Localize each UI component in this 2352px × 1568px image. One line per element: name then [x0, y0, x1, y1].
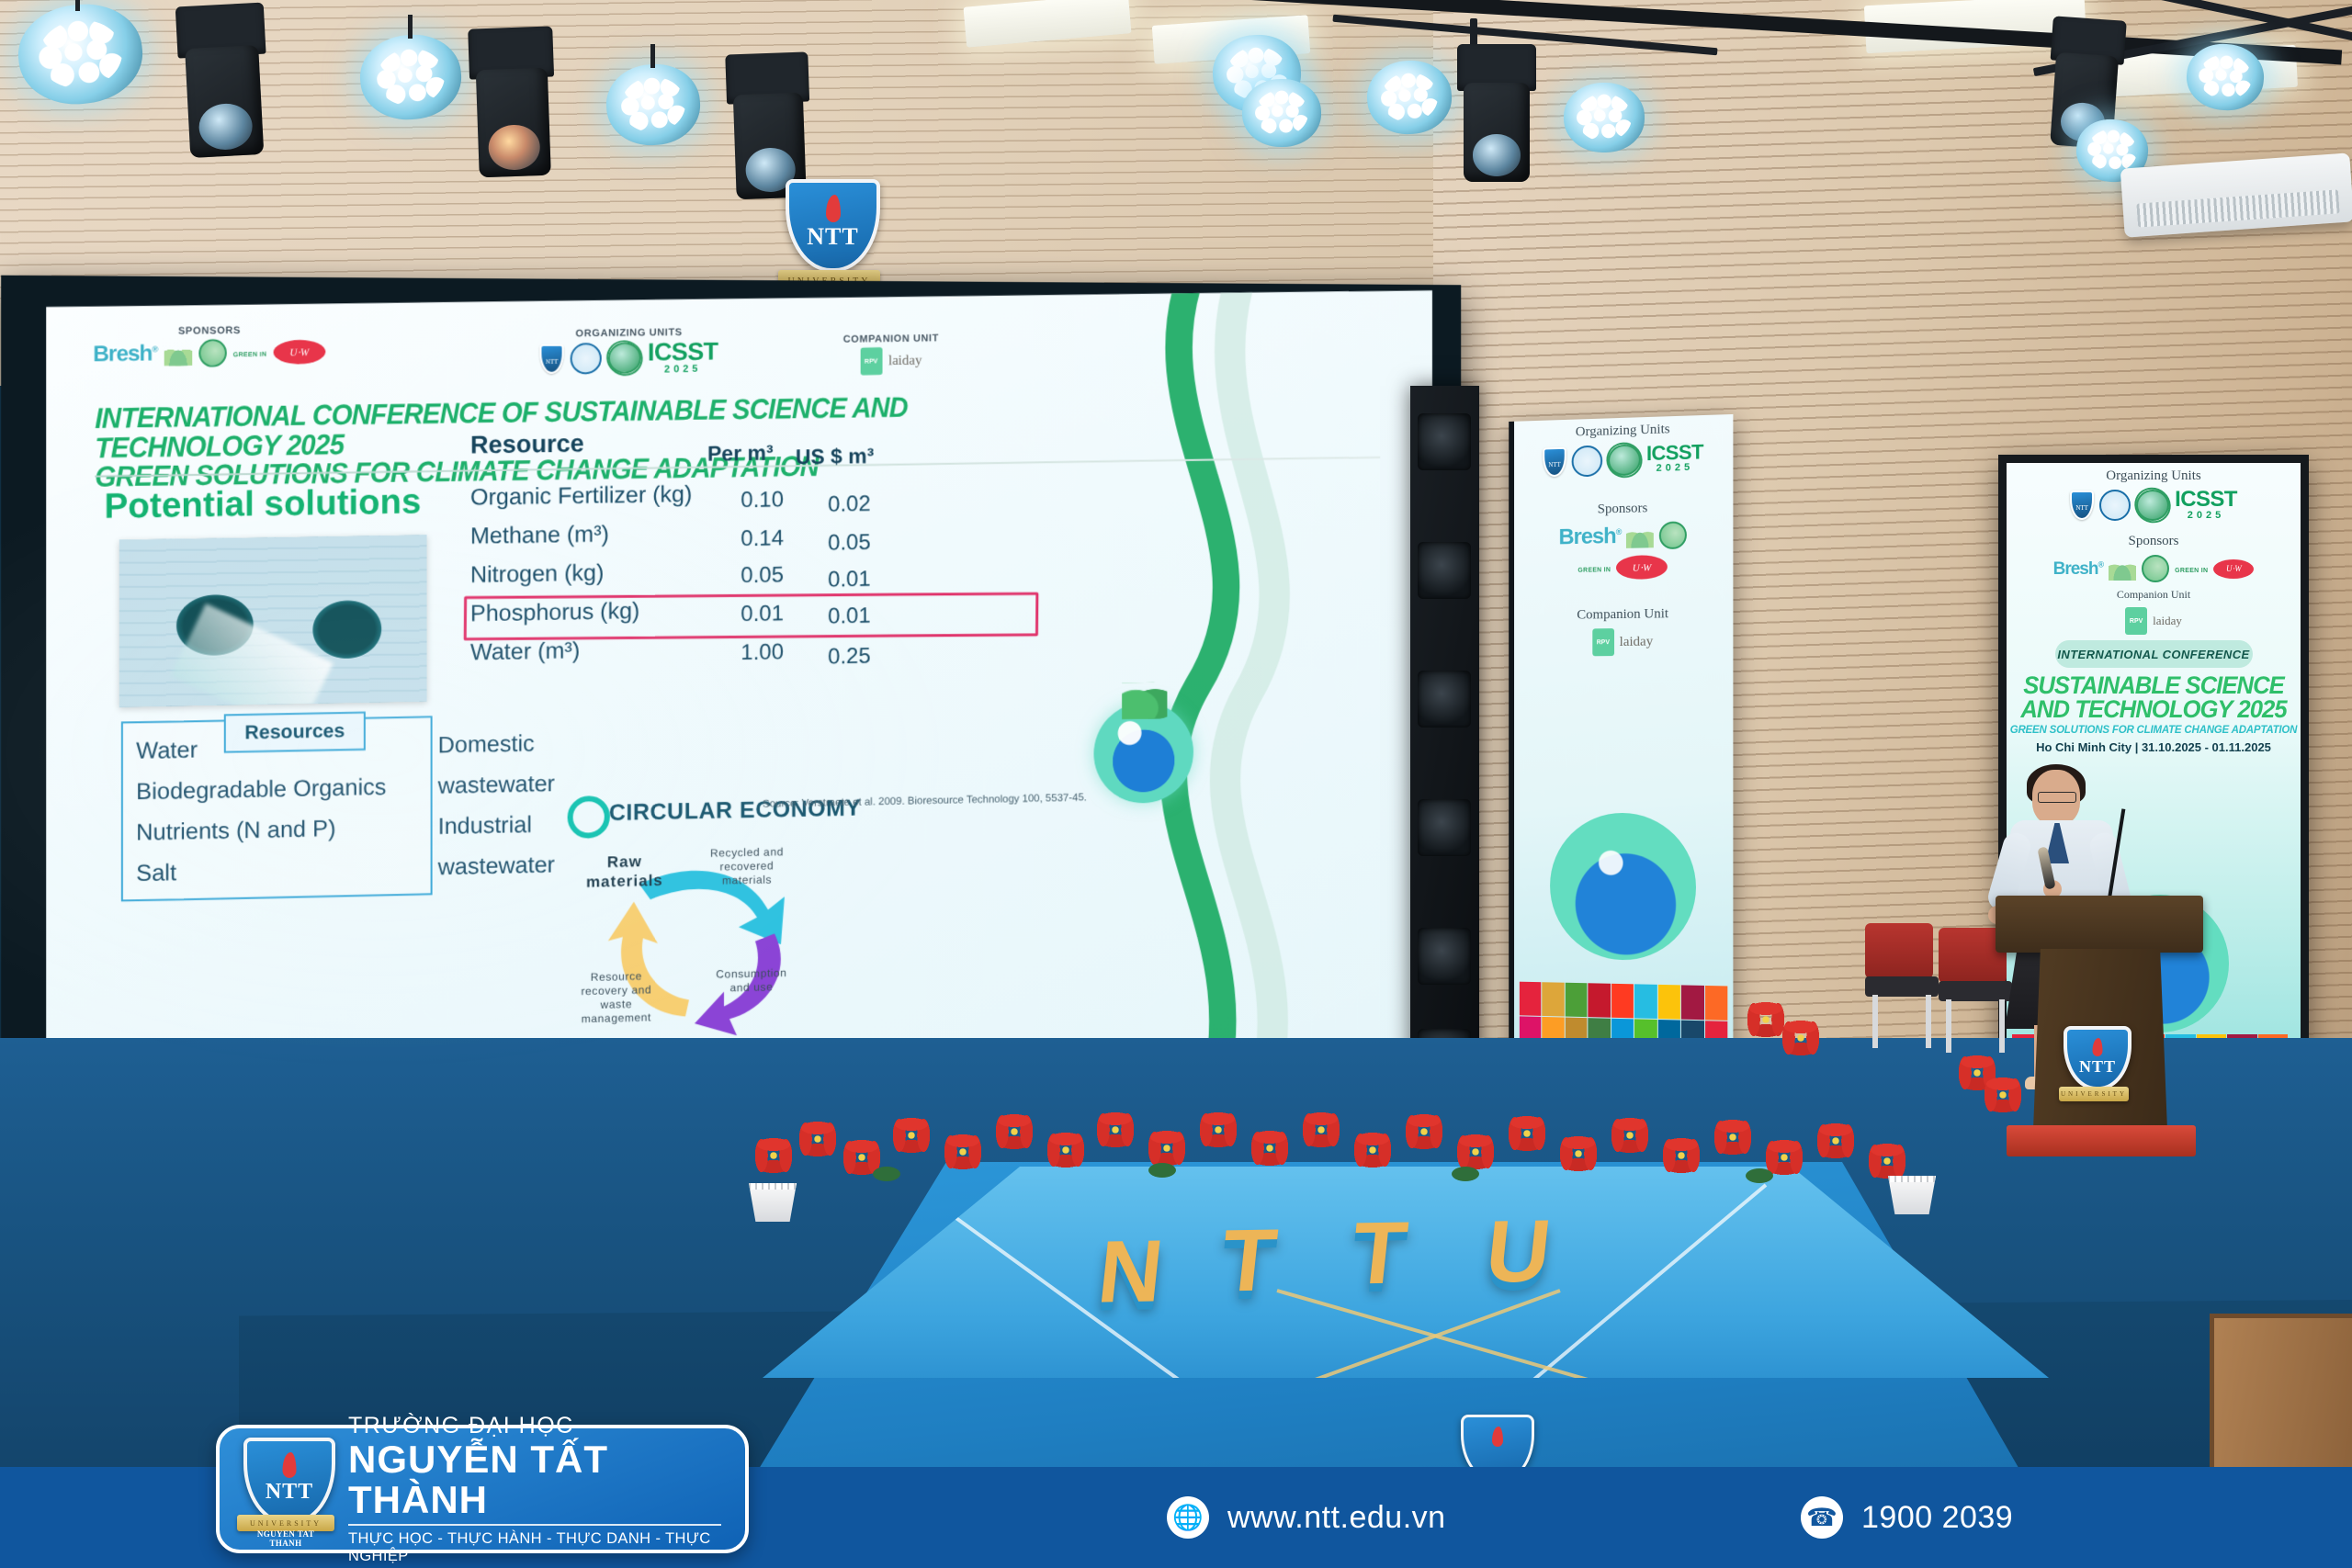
sdg-tile: [1681, 985, 1704, 1019]
sponsors-logo-group: SPONSORS Bresh® GREEN IN U⋅W: [93, 324, 325, 369]
ntt-monogram: NTT: [2067, 1057, 2128, 1077]
eyeglasses-icon: [2038, 792, 2076, 803]
institute-seal-icon: [1572, 446, 1603, 478]
flower: [891, 1117, 932, 1154]
poster-date-location: Ho Chi Minh City | 31.10.2025 - 01.11.20…: [2007, 740, 2301, 754]
brand-divider: [348, 1524, 721, 1526]
foliage: [1746, 1168, 1773, 1183]
light-lens: [488, 124, 540, 171]
speaker-driver: [1418, 928, 1471, 985]
globe-network-icon: [608, 343, 641, 375]
institute-seal-icon: [2099, 490, 2131, 521]
table-row: Methane (m³): [470, 521, 609, 549]
par-can-light: [1564, 83, 1645, 152]
table-cell-usd-m3: 0.05: [788, 530, 871, 557]
ntt-wall-emblem: NTT UNIVERSITY: [786, 179, 873, 294]
flower: [943, 1134, 983, 1170]
sdg-tile: [1657, 985, 1680, 1019]
sdg-tile: [1589, 983, 1611, 1017]
chair-leg: [1946, 999, 1951, 1053]
poster-sponsors-caption: Sponsors: [2007, 534, 2301, 549]
poster-organizing-logos: ICSST 2025: [2007, 490, 2301, 521]
poster-subtitle: GREEN SOLUTIONS FOR CLIMATE CHANGE ADAPT…: [2007, 725, 2301, 736]
sdg-tile: [1520, 982, 1542, 1016]
icsst-logo: ICSST 2025: [648, 340, 718, 374]
phone-icon: ☎: [1801, 1496, 1843, 1539]
rpv-logo-icon: RPV: [860, 347, 882, 375]
speaker-podium: NTT UNIVERSITY: [2012, 896, 2187, 1153]
green-in-label: GREEN IN: [2175, 568, 2208, 574]
flower: [1095, 1111, 1136, 1148]
poster-title: SUSTAINABLE SCIENCE AND TECHNOLOGY 2025: [2014, 673, 2293, 721]
flower: [797, 1121, 838, 1157]
institute-seal-icon: [571, 343, 602, 375]
moving-head-light: [725, 51, 812, 199]
rpv-logo-icon: RPV: [1592, 628, 1614, 656]
banner-sponsor-logos-2: GREEN IN U⋅W: [1514, 554, 1733, 581]
flame-icon: [2093, 1038, 2103, 1056]
poster-companion-caption: Companion Unit: [2007, 588, 2301, 602]
website-url[interactable]: www.ntt.edu.vn: [1227, 1500, 1446, 1536]
sdg-tile: [1611, 984, 1634, 1018]
speaker-driver: [1418, 413, 1471, 470]
organizing-logo-row: ICSST 2025: [539, 340, 718, 376]
lotus-leaf-logo-icon: [1626, 524, 1654, 548]
sdg-tile: [1566, 983, 1588, 1017]
flower: [1713, 1119, 1753, 1156]
icsst-logo: ICSST 2025: [2175, 490, 2237, 520]
organizing-units-logo-group: ORGANIZING UNITS ICSST 2025: [539, 326, 718, 376]
flower-pot: [744, 1183, 801, 1222]
source-citation: Source: Verstraete et al. 2009. Bioresou…: [763, 793, 1087, 810]
globe-icon: 🌐: [1167, 1496, 1209, 1539]
phone-number[interactable]: 1900 2039: [1861, 1500, 2013, 1536]
icsst-name: ICSST: [648, 337, 718, 366]
companion-unit-caption: COMPANION UNIT: [843, 333, 939, 344]
green-swirl-decoration: [1062, 290, 1333, 1099]
chair-seat: [1865, 976, 1939, 997]
flower: [1352, 1132, 1393, 1168]
table-cell-usd-m3: 0.01: [788, 567, 871, 593]
university-name-block: TRƯỜNG ĐẠI HỌC NGUYỄN TẤT THÀNH THỰC HỌC…: [348, 1413, 721, 1565]
podium-ntt-emblem: NTT UNIVERSITY: [2064, 1026, 2124, 1103]
flower: [1198, 1111, 1238, 1148]
table-cell-usd-m3: 0.25: [788, 644, 871, 671]
flower: [1781, 1020, 1821, 1056]
table-cell-per-m3: 0.10: [701, 487, 784, 513]
ce-label-consumption: Consumption and use: [701, 966, 802, 997]
flower: [1249, 1130, 1290, 1167]
table-row: Organic Fertilizer (kg): [470, 481, 692, 512]
wastewater-source-line: wastewater: [438, 771, 555, 800]
flower: [1455, 1134, 1496, 1170]
green-in-label: GREEN IN: [1577, 567, 1611, 574]
table-cell-per-m3: 0.14: [701, 525, 784, 552]
poster-organizing-caption: Organizing Units: [2007, 468, 2301, 484]
university-prefix: TRƯỜNG ĐẠI HỌC: [348, 1413, 721, 1439]
poster-pill-label: INTERNATIONAL CONFERENCE: [2055, 640, 2253, 668]
ntt-university-logo-icon: [1543, 447, 1566, 478]
flower-pot: [1883, 1176, 1940, 1214]
poster-companion-logos: RPV laiday: [2007, 607, 2301, 635]
speaker-driver: [1418, 671, 1471, 728]
flower: [1867, 1143, 1907, 1179]
banner-green-globe-graphic: [1550, 813, 1696, 962]
flower: [1815, 1122, 1856, 1159]
resource-item: Water: [136, 737, 198, 765]
university-motto: THỰC HỌC - THỰC HÀNH - THỰC DANH - THỰC …: [348, 1530, 721, 1565]
flame-icon: [283, 1452, 297, 1478]
website-block[interactable]: 🌐 www.ntt.edu.vn: [1167, 1496, 1446, 1539]
wastewater-source-line: wastewater: [438, 852, 555, 881]
podium-riser-platform: [2007, 1125, 2196, 1156]
flower: [1558, 1135, 1599, 1172]
university-brand-card: NTT UNIVERSITY NGUYEN TAT THANH TRƯỜNG Đ…: [216, 1425, 749, 1553]
bresh-logo: Bresh®: [2053, 560, 2104, 578]
table-cell-usd-m3: 0.02: [788, 491, 871, 518]
foliage: [873, 1167, 900, 1181]
globe-network-icon: [1608, 444, 1641, 476]
light-hanger: [650, 44, 655, 68]
icsst-year: 2025: [2175, 511, 2237, 520]
green-globe-graphic: [1094, 702, 1193, 804]
wastewater-source-line: Domestic: [438, 730, 535, 759]
table-cell-per-m3: 1.00: [701, 639, 784, 667]
ypc-leaf-logo-icon: [1659, 521, 1687, 549]
brand-logo-caption: NGUYEN TAT THANH: [243, 1529, 328, 1548]
sponsor-logo-row: Bresh® GREEN IN U⋅W: [93, 338, 325, 368]
shield-badge: NTT: [786, 179, 880, 272]
poster-title-line1: SUSTAINABLE SCIENCE: [2014, 673, 2293, 697]
table-row: Nitrogen (kg): [470, 560, 604, 589]
speaker-driver: [1418, 542, 1471, 599]
green-in-logo: GREEN IN: [233, 344, 267, 362]
ntt-brand-emblem: NTT UNIVERSITY NGUYEN TAT THANH: [243, 1438, 328, 1540]
shield-badge: NTT: [243, 1438, 335, 1525]
companion-logo-row: RPV laiday: [843, 346, 939, 375]
green-in-logo: GREEN IN: [2175, 560, 2208, 577]
presentation-slide: SPONSORS Bresh® GREEN IN U⋅W ORGANIZING …: [46, 290, 1432, 1101]
phosphorus-row-highlight-box: [464, 592, 1039, 641]
banner-companion-logos: RPV laiday: [1514, 626, 1733, 657]
light-lens: [198, 102, 254, 151]
flower: [1507, 1115, 1547, 1152]
resource-item: Nutrients (N and P): [136, 816, 335, 847]
bresh-logo: Bresh®: [93, 343, 157, 366]
flower: [753, 1137, 794, 1174]
globe-network-icon: [2136, 490, 2169, 521]
icsst-name: ICSST: [1646, 441, 1703, 466]
poster-sponsor-logos: Bresh® GREEN IN U⋅W: [2007, 555, 2301, 582]
circular-economy-badge-icon: [568, 795, 610, 839]
conference-hall-scene: NTT UNIVERSITY SPONSORS Bresh®: [0, 0, 2352, 1568]
uw-technology-logo: U⋅W: [1616, 555, 1668, 580]
ce-label-recycled: Recycled and recovered materials: [696, 845, 797, 888]
resources-tag-label: Resources: [224, 712, 366, 753]
green-in-logo: GREEN IN: [1577, 559, 1611, 577]
sponsors-caption: SPONSORS: [93, 324, 325, 338]
flower: [1301, 1111, 1341, 1148]
flower: [1147, 1130, 1187, 1167]
speaker-driver: [1418, 799, 1471, 856]
lotus-leaf-logo-icon: [2109, 557, 2136, 581]
flame-icon: [1492, 1427, 1503, 1447]
uw-technology-logo: U⋅W: [274, 340, 326, 365]
light-head: [1464, 83, 1530, 182]
companion-unit-logo-group: COMPANION UNIT RPV laiday: [843, 333, 939, 375]
flower: [1610, 1117, 1650, 1154]
ntt-monogram: NTT: [789, 223, 876, 251]
chair-back: [1865, 923, 1933, 978]
banner-companion-caption: Companion Unit: [1514, 605, 1733, 624]
bresh-logo: Bresh®: [1559, 525, 1622, 548]
light-hanger: [408, 15, 413, 39]
resource-item: Biodegradable Organics: [136, 774, 386, 807]
stage-letter: T: [1216, 1210, 1281, 1312]
icsst-logo: ICSST 2025: [1646, 444, 1703, 474]
resource-item: Salt: [136, 860, 176, 887]
table-header-resource: Resource: [470, 430, 584, 460]
foliage: [1452, 1167, 1479, 1181]
university-name: NGUYỄN TẤT THÀNH: [348, 1439, 721, 1520]
ypc-leaf-logo-icon: [198, 339, 226, 367]
rpv-logo-icon: RPV: [2125, 607, 2147, 635]
laiday-logo: laiday: [2153, 614, 2182, 628]
banner-organizing-caption: Organizing Units: [1514, 420, 1733, 443]
ntt-university-logo-icon: [539, 344, 563, 374]
moving-head-light: [468, 26, 558, 177]
banner-organizing-logos: ICSST 2025: [1514, 441, 1733, 479]
university-ribbon: UNIVERSITY: [2059, 1087, 2130, 1101]
wastewater-outfall-photo: [119, 535, 427, 706]
main-led-screen: SPONSORS Bresh® GREEN IN U⋅W ORGANIZING …: [1, 276, 1461, 1112]
slide-section-title: Potential solutions: [105, 482, 422, 527]
ntt-university-logo-icon: [2070, 491, 2094, 520]
table-cell-per-m3: 0.05: [701, 562, 784, 589]
chair-leg: [1872, 995, 1878, 1048]
flower: [994, 1113, 1035, 1150]
ce-label-recovery: Resource recovery and waste management: [566, 969, 667, 1027]
table-header-per-m3: Per m³: [707, 441, 774, 467]
moving-head-light: [175, 3, 272, 159]
light-head: [185, 45, 265, 158]
uw-technology-logo: U⋅W: [2213, 559, 2254, 579]
truss-speaker-stack: [1410, 386, 1479, 1111]
banner-sponsors-caption: Sponsors: [1514, 499, 1733, 520]
table-row: Water (m³): [470, 637, 580, 666]
flower-decoration-row: [753, 1111, 1966, 1222]
table-header-usd-m3: US $ m³: [796, 444, 874, 469]
podium-top-surface: [1996, 896, 2203, 953]
lotus-leaf-logo-icon: [164, 342, 192, 367]
laiday-logo: laiday: [888, 353, 922, 368]
par-can-light: [1242, 79, 1321, 147]
wastewater-source-line: Industrial: [438, 812, 532, 840]
flower: [1046, 1132, 1086, 1168]
ypc-leaf-logo-icon: [2142, 555, 2169, 582]
foliage: [1148, 1163, 1176, 1178]
chair-leg: [1926, 995, 1931, 1048]
flame-icon: [826, 195, 841, 222]
ce-label-raw-materials: Raw materials: [579, 852, 671, 893]
stage-letter: N: [1093, 1221, 1168, 1323]
sdg-tile: [1543, 982, 1565, 1016]
green-in-label: GREEN IN: [233, 352, 267, 359]
laiday-logo: laiday: [1620, 634, 1653, 649]
light-head: [476, 68, 550, 177]
phone-block[interactable]: ☎ 1900 2039: [1801, 1496, 2013, 1539]
poster-title-line2: AND TECHNOLOGY 2025: [2014, 697, 2293, 721]
flower: [1404, 1113, 1444, 1150]
sdg-tile: [1634, 984, 1657, 1018]
side-vertical-banner: Organizing Units ICSST 2025 Sponsors Bre…: [1509, 414, 1733, 1111]
sdg-tile: [1705, 986, 1728, 1020]
icsst-name: ICSST: [2175, 487, 2237, 512]
banner-sponsor-logos: Bresh®: [1514, 520, 1733, 552]
light-hanger: [75, 0, 80, 11]
shield-badge: NTT: [2064, 1026, 2131, 1090]
light-lens: [1473, 134, 1521, 175]
moving-head-light: [1457, 44, 1536, 182]
ntt-monogram: NTT: [247, 1480, 332, 1505]
flower: [1661, 1137, 1702, 1174]
